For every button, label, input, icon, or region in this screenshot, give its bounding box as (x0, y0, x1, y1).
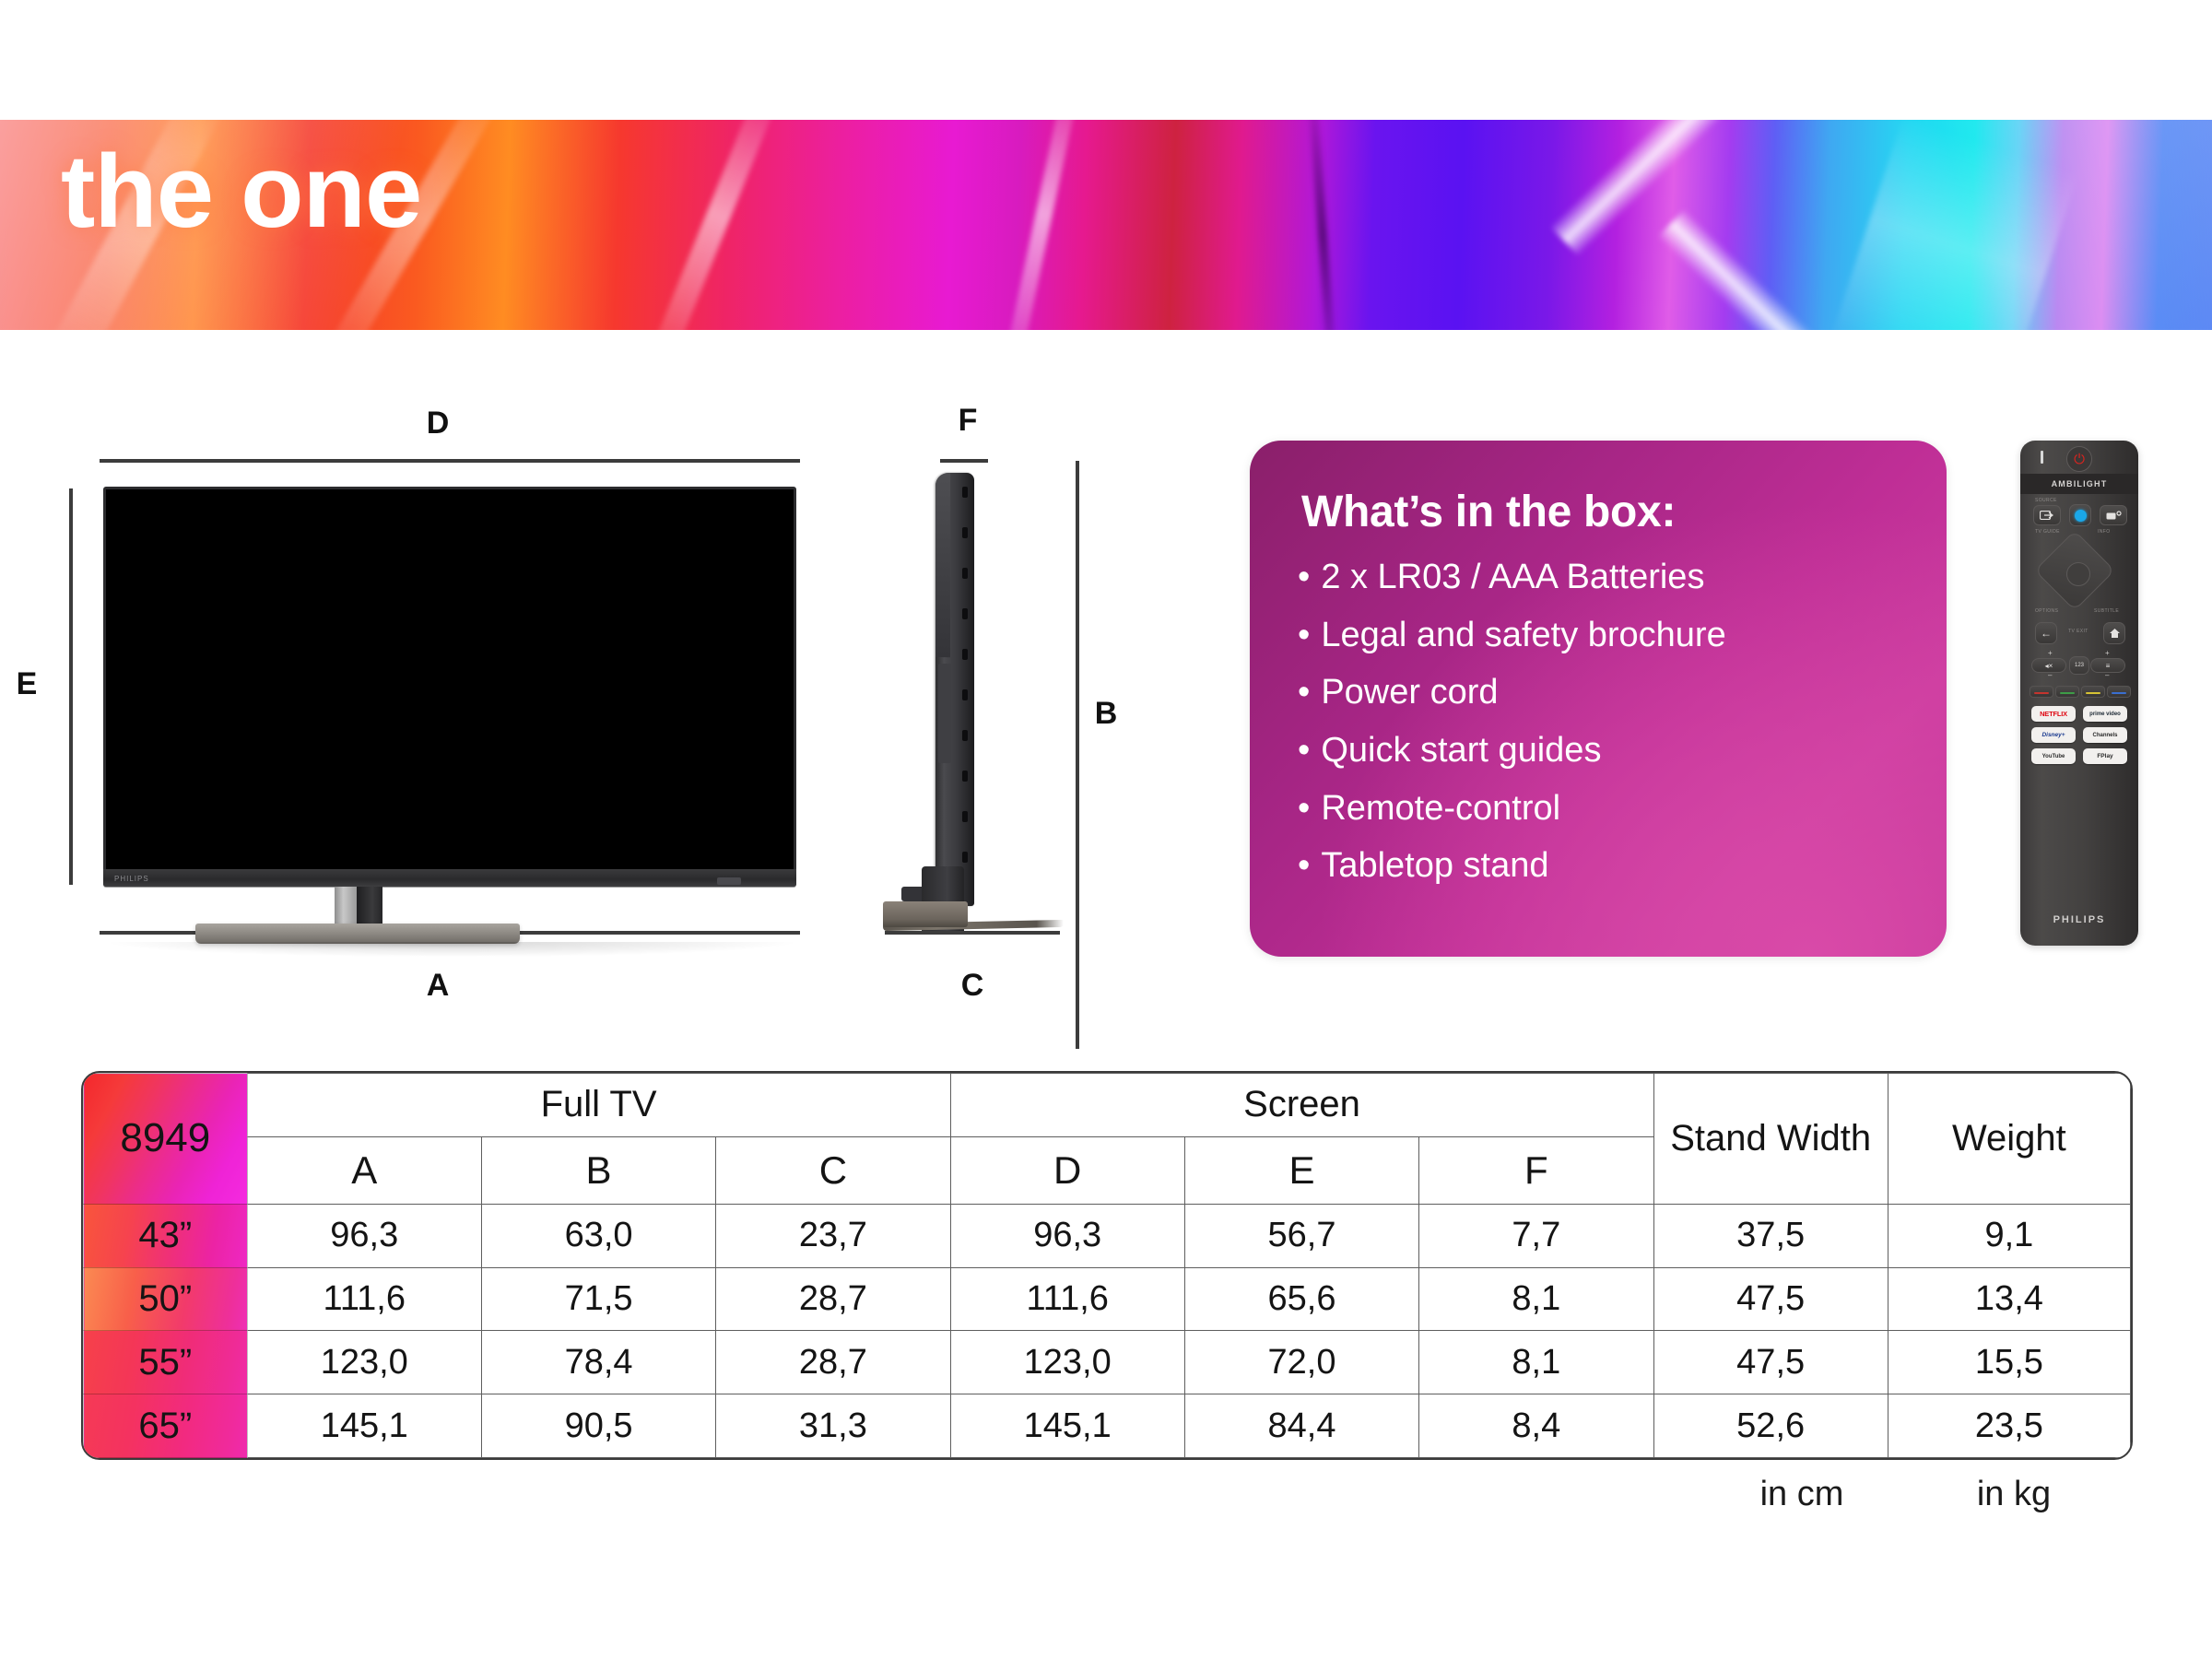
home-button[interactable] (2103, 622, 2125, 644)
cell-stand-width: 52,6 (1653, 1394, 1888, 1458)
source-button[interactable] (2033, 505, 2061, 525)
row-size-label: 65” (84, 1394, 248, 1458)
info-label: INFO (2098, 529, 2111, 535)
list-item: •Legal and safety brochure (1298, 617, 1726, 654)
list-item-label: Power cord (1321, 673, 1498, 712)
model-number-cell: 8949 (84, 1074, 248, 1205)
vent-slot (962, 527, 968, 538)
bullet-icon: • (1298, 789, 1310, 828)
cell-c: 28,7 (716, 1331, 950, 1394)
units-length-label: in cm (1696, 1475, 1908, 1514)
dimension-line-c (885, 931, 1060, 935)
tv-stand-neck-right (357, 887, 382, 927)
list-item-label: Tabletop stand (1321, 846, 1548, 885)
fplay-button[interactable]: FPlay (2083, 748, 2127, 764)
header-dim-a: A (247, 1136, 481, 1204)
netflix-button[interactable]: NETFLIX (2031, 706, 2076, 722)
subtitle-label: SUBTITLE (2094, 608, 2119, 614)
tv-drop-shadow (111, 942, 793, 957)
bullet-icon: • (1298, 731, 1310, 770)
group-header-full-tv: Full TV (247, 1074, 950, 1137)
tv-stand-neck-left (335, 887, 357, 927)
cell-f: 8,1 (1419, 1267, 1653, 1331)
cell-b: 78,4 (481, 1331, 715, 1394)
dimension-label-e: E (13, 666, 41, 702)
table-header-row-groups: 8949 Full TV Screen Stand Width Weight (84, 1074, 2131, 1137)
cell-stand-width: 47,5 (1653, 1267, 1888, 1331)
dimension-label-b: B (1092, 696, 1120, 732)
dimension-label-c: C (959, 968, 986, 1004)
row-size-label: 55” (84, 1331, 248, 1394)
header-dim-c: C (716, 1136, 950, 1204)
tv-side-stand-base (883, 901, 968, 927)
remote-color-keys-row (2020, 686, 2138, 700)
table-row: 50” 111,6 71,5 28,7 111,6 65,6 8,1 47,5 … (84, 1267, 2131, 1331)
header-dim-d: D (950, 1136, 1184, 1204)
cell-f: 8,4 (1419, 1394, 1653, 1458)
ambilight-tv-icon (2106, 511, 2122, 521)
list-item: •Quick start guides (1298, 732, 1726, 770)
ir-sensor-icon (717, 877, 741, 885)
prime-video-button[interactable]: prime video (2083, 706, 2127, 722)
vent-slot (962, 771, 968, 782)
table-row: 43” 96,3 63,0 23,7 96,3 56,7 7,7 37,5 9,… (84, 1204, 2131, 1267)
assistant-dot-icon (2075, 510, 2087, 522)
cell-b: 63,0 (481, 1204, 715, 1267)
cell-d: 145,1 (950, 1394, 1184, 1458)
whats-in-the-box-card: What’s in the box: •2 x LR03 / AAA Batte… (1250, 441, 1947, 957)
table-row: 55” 123,0 78,4 28,7 123,0 72,0 8,1 47,5 … (84, 1331, 2131, 1394)
ambilight-button[interactable]: AMBILIGHT (2020, 474, 2138, 494)
dpad-cluster[interactable]: TV GUIDE INFO OPTIONS SUBTITLE (2041, 536, 2118, 614)
cell-d: 96,3 (950, 1204, 1184, 1267)
voice-assistant-button[interactable] (2069, 504, 2091, 526)
tv-side-vents (962, 487, 970, 883)
box-title: What’s in the box: (1301, 487, 1676, 537)
row-size-label: 50” (84, 1267, 248, 1331)
row-size-label: 43” (84, 1204, 248, 1267)
cell-a: 145,1 (247, 1394, 481, 1458)
tv-guide-label: TV GUIDE (2035, 529, 2060, 535)
bullet-icon: • (1298, 846, 1310, 885)
header-stand-width: Stand Width (1653, 1074, 1888, 1205)
header-dim-f: F (1419, 1136, 1653, 1204)
cell-c: 23,7 (716, 1204, 950, 1267)
channel-up-label[interactable]: + (2105, 649, 2110, 657)
vent-slot (962, 649, 968, 660)
dimension-line-d (100, 459, 800, 463)
remote-power-row: ⏻ (2020, 441, 2138, 474)
back-arrow-icon: ← (2041, 628, 2052, 639)
tv-side-port-panel (938, 664, 951, 763)
dimension-line-b (1076, 461, 1079, 1049)
cell-a: 123,0 (247, 1331, 481, 1394)
ambilight-mode-button[interactable] (2100, 505, 2127, 525)
cell-a: 111,6 (247, 1267, 481, 1331)
remote-control: ⏻ AMBILIGHT SOURCE TV GUIDE INFO OPTIONS… (2020, 441, 2138, 946)
header-dim-e: E (1184, 1136, 1418, 1204)
color-key-red[interactable] (2030, 686, 2053, 698)
dimension-line-e (69, 488, 73, 885)
cell-d: 123,0 (950, 1331, 1184, 1394)
cell-d: 111,6 (950, 1267, 1184, 1331)
tv-brand-logo: PHILIPS (114, 875, 149, 883)
cell-stand-width: 47,5 (1653, 1331, 1888, 1394)
tv-screen (106, 489, 794, 869)
ok-button[interactable] (2066, 562, 2090, 586)
cell-a: 96,3 (247, 1204, 481, 1267)
list-item: •2 x LR03 / AAA Batteries (1298, 559, 1726, 596)
header-dim-b: B (481, 1136, 715, 1204)
tv-stand-neck (335, 887, 382, 927)
disney-plus-button[interactable]: Disney+ (2031, 727, 2076, 743)
cell-f: 7,7 (1419, 1204, 1653, 1267)
remote-indicator-bar-icon (2041, 451, 2043, 464)
vent-slot (962, 811, 968, 822)
vent-slot (962, 730, 968, 741)
cell-e: 56,7 (1184, 1204, 1418, 1267)
hero-banner: the one (0, 120, 2212, 330)
tv-side-taper (935, 473, 950, 657)
list-item-label: 2 x LR03 / AAA Batteries (1321, 558, 1704, 596)
cell-b: 90,5 (481, 1394, 715, 1458)
bullet-icon: • (1298, 616, 1310, 654)
cell-b: 71,5 (481, 1267, 715, 1331)
cell-weight: 23,5 (1888, 1394, 2130, 1458)
units-weight-label: in kg (1908, 1475, 2120, 1514)
color-key-blue[interactable] (2107, 686, 2131, 698)
vent-slot (962, 568, 968, 579)
dimension-label-f: F (954, 403, 982, 439)
dimension-label-d: D (419, 406, 456, 441)
remote-volume-row: + ◂× – 123 + ≡ – (2020, 653, 2138, 678)
bullet-icon: • (1298, 558, 1310, 596)
cell-e: 72,0 (1184, 1331, 1418, 1394)
remote-nav-row: ← TV EXIT (2020, 619, 2138, 649)
list-item: •Remote-control (1298, 790, 1726, 828)
volume-up-label[interactable]: + (2048, 649, 2053, 657)
tv-front-view: PHILIPS (103, 487, 796, 887)
volume-down-label[interactable]: – (2048, 671, 2052, 679)
home-icon (2109, 628, 2121, 639)
cell-weight: 9,1 (1888, 1204, 2130, 1267)
box-contents-list: •2 x LR03 / AAA Batteries •Legal and saf… (1298, 559, 1726, 905)
remote-source-row: SOURCE (2020, 498, 2138, 529)
tv-bottom-bezel: PHILIPS (103, 869, 796, 887)
cell-stand-width: 37,5 (1653, 1204, 1888, 1267)
source-label: SOURCE (2035, 498, 2057, 503)
table-row: 65” 145,1 90,5 31,3 145,1 84,4 8,4 52,6 … (84, 1394, 2131, 1458)
options-label: OPTIONS (2035, 608, 2058, 614)
list-item-label: Quick start guides (1321, 731, 1601, 770)
cell-weight: 15,5 (1888, 1331, 2130, 1394)
cell-f: 8,1 (1419, 1331, 1653, 1394)
channel-down-label[interactable]: – (2105, 671, 2109, 679)
youtube-button[interactable]: YouTube (2031, 748, 2076, 764)
numeric-keypad-button[interactable]: 123 (2069, 656, 2089, 675)
channels-button[interactable]: Channels (2083, 727, 2127, 743)
list-item: •Power cord (1298, 674, 1726, 712)
digits-icon: 123 (2075, 663, 2084, 668)
cell-c: 28,7 (716, 1267, 950, 1331)
vent-slot (962, 852, 968, 863)
list-item: •Tabletop stand (1298, 847, 1726, 885)
vent-slot (962, 608, 968, 619)
header-weight: Weight (1888, 1074, 2130, 1205)
back-button[interactable]: ← (2035, 622, 2057, 644)
color-key-yellow[interactable] (2081, 686, 2105, 698)
cell-weight: 13,4 (1888, 1267, 2130, 1331)
cell-e: 84,4 (1184, 1394, 1418, 1458)
dimension-label-a: A (419, 968, 456, 1004)
vent-slot (962, 689, 968, 700)
color-key-green[interactable] (2055, 686, 2079, 698)
cell-e: 65,6 (1184, 1267, 1418, 1331)
group-header-screen: Screen (950, 1074, 1653, 1137)
cell-c: 31,3 (716, 1394, 950, 1458)
hero-title: the one (61, 140, 421, 243)
remote-brand-logo: PHILIPS (2020, 914, 2138, 925)
list-item-label: Legal and safety brochure (1321, 616, 1725, 654)
vent-slot (962, 487, 968, 498)
tv-stand-base (195, 924, 520, 944)
dimension-line-f (940, 459, 988, 463)
source-icon (2040, 511, 2054, 520)
specifications-table: 8949 Full TV Screen Stand Width Weight A… (81, 1071, 2133, 1460)
tv-exit-button[interactable]: TV EXIT (2068, 629, 2088, 634)
list-item-label: Remote-control (1321, 789, 1560, 828)
power-button[interactable]: ⏻ (2066, 446, 2092, 472)
bullet-icon: • (1298, 673, 1310, 712)
